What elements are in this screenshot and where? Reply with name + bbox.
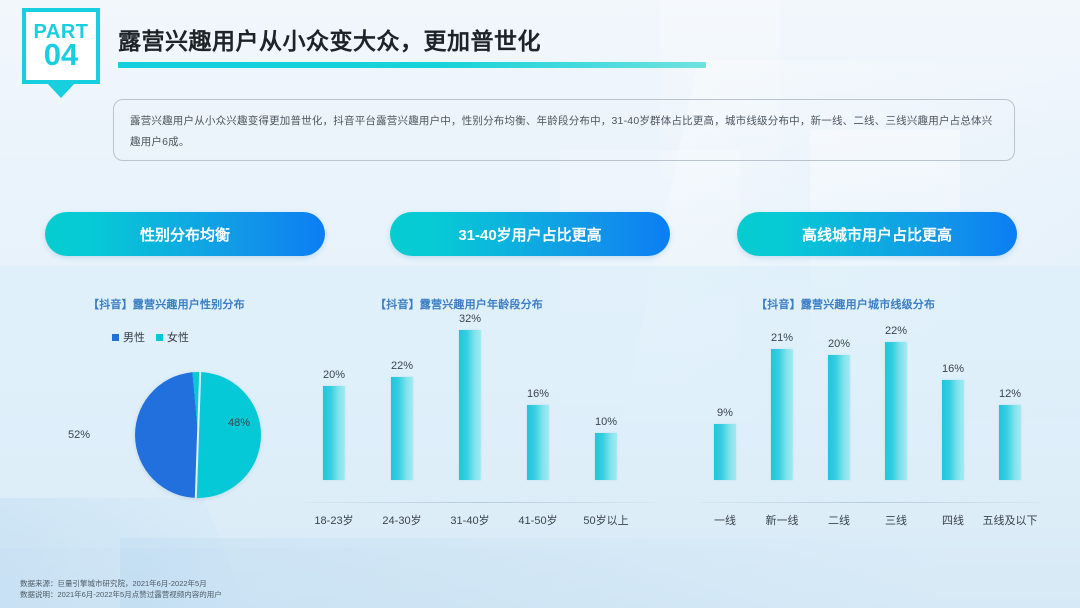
footer-source: 数据来源：巨量引擎城市研究院，2021年6月-2022年5月 xyxy=(20,578,222,589)
bar-category-label: 41-50岁 xyxy=(501,512,575,528)
part-badge-pointer-icon xyxy=(46,82,76,98)
age-axis-line xyxy=(305,502,655,503)
page-title: 露营兴趣用户从小众变大众，更加普世化 xyxy=(118,22,541,56)
chart-title-gender: 【抖音】露营兴趣用户性别分布 xyxy=(88,296,245,312)
pill-gender-balance[interactable]: 性别分布均衡 xyxy=(45,212,325,256)
bar xyxy=(828,355,850,480)
pill-age-3140[interactable]: 31-40岁用户占比更高 xyxy=(390,212,670,256)
bar-category-label: 50岁以上 xyxy=(569,512,643,528)
bar xyxy=(885,342,907,480)
bar xyxy=(771,349,793,480)
bar-value-label: 12% xyxy=(980,388,1040,400)
legend-label-female: 女性 xyxy=(167,329,189,345)
title-underline-rule xyxy=(118,62,706,68)
bar xyxy=(527,405,549,480)
legend-label-male: 男性 xyxy=(123,329,145,345)
pie-legend: 男性 女性 xyxy=(112,329,189,345)
pill-high-tier-city[interactable]: 高线城市用户占比更高 xyxy=(737,212,1017,256)
part-badge: PART 04 xyxy=(22,8,100,84)
chart-title-age: 【抖音】露营兴趣用户年龄段分布 xyxy=(375,296,543,312)
bar-category-label: 18-23岁 xyxy=(297,512,371,528)
city-axis-line xyxy=(700,502,1040,503)
slide-root: PART 04 露营兴趣用户从小众变大众，更加普世化 露营兴趣用户从小众兴趣变得… xyxy=(0,0,1080,608)
bar-value-label: 22% xyxy=(372,360,432,372)
legend-swatch-female-icon xyxy=(156,334,163,341)
background-shape-5 xyxy=(120,538,940,608)
bar xyxy=(323,386,345,480)
pie-label-male: 48% xyxy=(228,417,250,429)
bar xyxy=(999,405,1021,480)
chart-title-city: 【抖音】露营兴趣用户城市线级分布 xyxy=(756,296,935,312)
legend-item-male: 男性 xyxy=(112,329,145,345)
part-number: 04 xyxy=(44,40,78,70)
legend-swatch-male-icon xyxy=(112,334,119,341)
bar-value-label: 20% xyxy=(304,369,364,381)
bar-category-label: 五线及以下 xyxy=(973,512,1047,528)
bar xyxy=(391,377,413,480)
bar-value-label: 22% xyxy=(866,325,926,337)
summary-text: 露营兴趣用户从小众兴趣变得更加普世化，抖音平台露营兴趣用户中，性别分布均衡、年龄… xyxy=(130,111,998,153)
bar xyxy=(714,424,736,480)
pie-label-female: 52% xyxy=(68,429,90,441)
bar-value-label: 16% xyxy=(508,388,568,400)
bar-category-label: 31-40岁 xyxy=(433,512,507,528)
gender-pie-chart xyxy=(135,372,261,498)
bar-value-label: 9% xyxy=(695,407,755,419)
bar-value-label: 20% xyxy=(809,338,869,350)
bar xyxy=(595,433,617,480)
bar-value-label: 10% xyxy=(576,416,636,428)
bar-value-label: 32% xyxy=(440,313,500,325)
bar xyxy=(459,330,481,480)
bar-value-label: 16% xyxy=(923,363,983,375)
bar-value-label: 21% xyxy=(752,332,812,344)
bar xyxy=(942,380,964,480)
summary-box: 露营兴趣用户从小众兴趣变得更加普世化，抖音平台露营兴趣用户中，性别分布均衡、年龄… xyxy=(113,99,1015,161)
legend-item-female: 女性 xyxy=(156,329,189,345)
footer-note: 数据说明：2021年6月-2022年5月点赞过露营视频内容的用户 xyxy=(20,589,222,600)
footer-notes: 数据来源：巨量引擎城市研究院，2021年6月-2022年5月 数据说明：2021… xyxy=(20,578,222,600)
bar-category-label: 24-30岁 xyxy=(365,512,439,528)
city-bar-chart: 9%一线21%新一线20%二线22%三线16%四线12%五线及以下 xyxy=(700,330,1040,503)
age-bar-chart: 20%18-23岁22%24-30岁32%31-40岁16%41-50岁10%5… xyxy=(305,330,655,503)
